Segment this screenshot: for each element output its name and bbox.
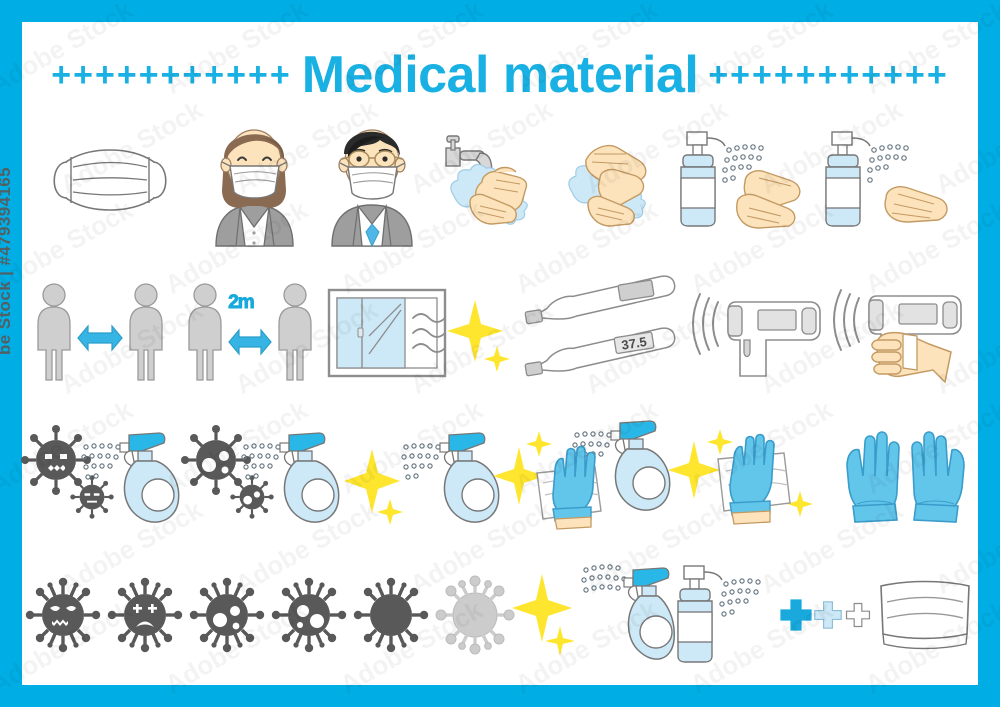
sanitizer-pump-hand-open-icon — [817, 120, 962, 240]
infrared-thermometer-gun-held-icon — [832, 278, 978, 386]
spray-with-sparkles-icon — [342, 415, 502, 535]
watermark-side: be Stock | #479394165 — [0, 167, 15, 355]
virus-spotted-dark-2-icon — [268, 574, 350, 656]
virus-sleepy-icon — [22, 574, 104, 656]
spray-bottle-icon — [578, 556, 674, 674]
row-distance-ventilation-thermometer: 2m — [22, 272, 978, 392]
poster-canvas: +++++++++++ Medical material +++++++++++ — [22, 22, 978, 685]
sparkles-icon — [518, 570, 578, 660]
plus-run-left: +++++++++++ — [51, 58, 291, 92]
row-masks-handwash — [22, 107, 978, 252]
row-spray-gloves — [22, 412, 978, 537]
title-text: Medical material — [302, 49, 699, 101]
virus-dead-icon — [104, 574, 186, 656]
man-with-mask-glasses-icon — [312, 112, 432, 247]
virus-plain-dark-icon — [350, 574, 432, 656]
surgical-mask-icon — [22, 135, 197, 225]
social-distance-2m-icon: 2m — [177, 280, 323, 385]
spray-vs-virus-spotted-icon — [182, 415, 342, 535]
woman-with-mask-icon — [197, 112, 312, 247]
handwash-faucet-icon — [432, 120, 552, 240]
spray-vs-virus-sad-icon — [22, 415, 182, 535]
virus-plain-light-icon — [432, 572, 518, 658]
open-window-ventilation-icon — [323, 278, 517, 386]
digital-thermometers-icon: 37.5 — [517, 278, 692, 386]
sanitizer-pump-hands-rub-icon — [672, 120, 817, 240]
cross-white-icon — [843, 602, 873, 628]
row-viruses-crosses-mask — [22, 552, 978, 677]
sanitizer-pump-icon — [674, 556, 779, 674]
gloved-hand-wipe-sparkle-icon — [672, 415, 832, 535]
social-distance-arrow-icon — [22, 280, 177, 385]
mask-folded-icon — [873, 576, 978, 654]
infrared-thermometer-gun-icon — [692, 280, 833, 385]
cross-light-blue-icon — [813, 600, 843, 630]
plus-run-right: +++++++++++ — [708, 58, 948, 92]
virus-spotted-dark-icon — [186, 574, 268, 656]
distance-label-2m: 2m — [228, 292, 253, 314]
page-title: +++++++++++ Medical material +++++++++++ — [22, 44, 978, 106]
cross-blue-icon — [779, 598, 813, 632]
pair-of-gloves-icon — [832, 420, 978, 530]
gloved-hand-wipe-cloth-icon — [502, 415, 672, 535]
poster-border: +++++++++++ Medical material +++++++++++ — [0, 0, 1000, 707]
handwash-lather-icon — [552, 120, 672, 240]
